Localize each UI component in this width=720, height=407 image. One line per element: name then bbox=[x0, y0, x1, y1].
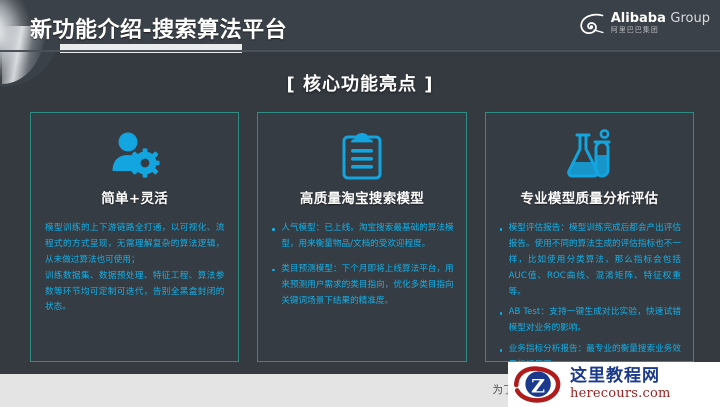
page-title: 新功能介绍-搜索算法平台 bbox=[30, 12, 287, 44]
logo-text-block: Alibaba Group 阿里巴巴集团 bbox=[611, 12, 710, 34]
alibaba-group-logo: Alibaba Group 阿里巴巴集团 bbox=[579, 8, 710, 38]
flask-testtube-icon bbox=[496, 127, 683, 183]
feature-card-simple-flexible[interactable]: 简单+灵活 模型训练的上下游链路全打通，以可视化、流程式的方式呈现，无需理解复杂… bbox=[30, 112, 239, 362]
logo-name-en: Alibaba Group bbox=[611, 12, 710, 25]
slide-header: 新功能介绍-搜索算法平台 Alibaba Group 阿里巴巴集团 bbox=[0, 0, 720, 52]
card-title: 专业模型质量分析评估 bbox=[496, 187, 683, 207]
watermark-site-url: herecours.com bbox=[570, 387, 671, 401]
watermark-letter: Z bbox=[531, 374, 545, 397]
user-gear-icon bbox=[41, 127, 228, 183]
logo-name-cn: 阿里巴巴集团 bbox=[611, 27, 710, 34]
list-item: 类目预测模型：下个月即将上线算法平台，用来预测用户需求的类目指向，优化多类目指向… bbox=[270, 262, 453, 310]
slide-canvas: 新功能介绍-搜索算法平台 Alibaba Group 阿里巴巴集团 [ 核心功能… bbox=[0, 0, 720, 374]
card-title: 简单+灵活 bbox=[41, 187, 228, 207]
list-item: 人气模型：已上线。淘宝搜索最基础的算法模型，用来衡量物品/文档的受欢迎程度。 bbox=[270, 221, 453, 253]
feature-card-search-model[interactable]: 高质量淘宝搜索模型 人气模型：已上线。淘宝搜索最基础的算法模型，用来衡量物品/文… bbox=[257, 112, 466, 362]
card-paragraph: 训练数据集、数据预处理、特征工程、算法参数等环节均可定制可迭代，告别全黑盒封闭的… bbox=[41, 269, 228, 317]
watermark-badge-icon: Z bbox=[512, 365, 566, 405]
site-watermark: Z 这里教程网 herecours.com bbox=[508, 362, 720, 407]
alibaba-swirl-icon bbox=[579, 12, 606, 35]
card-bullet-list: 人气模型：已上线。淘宝搜索最基础的算法模型，用来衡量物品/文档的受欢迎程度。 类… bbox=[268, 221, 455, 309]
feature-card-list: 简单+灵活 模型训练的上下游链路全打通，以可视化、流程式的方式呈现，无需理解复杂… bbox=[30, 112, 694, 362]
section-heading: [ 核心功能亮点 ] bbox=[0, 70, 720, 96]
feature-card-model-evaluation[interactable]: 专业模型质量分析评估 模型评估报告：模型训练完成后都会产出评估报告。使用不同的算… bbox=[485, 112, 694, 362]
card-paragraph: 模型训练的上下游链路全打通，以可视化、流程式的方式呈现，无需理解复杂的算法逻辑，… bbox=[41, 221, 228, 269]
list-item: AB Test：支持一键生成对比实验，快速试错模型对业务的影响。 bbox=[498, 305, 681, 337]
list-item: 模型评估报告：模型训练完成后都会产出评估报告。使用不同的算法生成的评估指标也不一… bbox=[498, 221, 681, 300]
card-title: 高质量淘宝搜索模型 bbox=[268, 187, 455, 207]
card-bullet-list: 模型评估报告：模型训练完成后都会产出评估报告。使用不同的算法生成的评估指标也不一… bbox=[496, 221, 683, 374]
card-body: 模型训练的上下游链路全打通，以可视化、流程式的方式呈现，无需理解复杂的算法逻辑，… bbox=[41, 221, 228, 316]
clipboard-cloud-icon bbox=[268, 127, 455, 183]
watermark-site-name-cn: 这里教程网 bbox=[570, 368, 671, 386]
watermark-text-block: 这里教程网 herecours.com bbox=[570, 368, 671, 400]
card-body: 模型评估报告：模型训练完成后都会产出评估报告。使用不同的算法生成的评估指标也不一… bbox=[496, 221, 683, 374]
title-underline-bar bbox=[60, 44, 242, 53]
card-body: 人气模型：已上线。淘宝搜索最基础的算法模型，用来衡量物品/文档的受欢迎程度。 类… bbox=[268, 221, 455, 309]
